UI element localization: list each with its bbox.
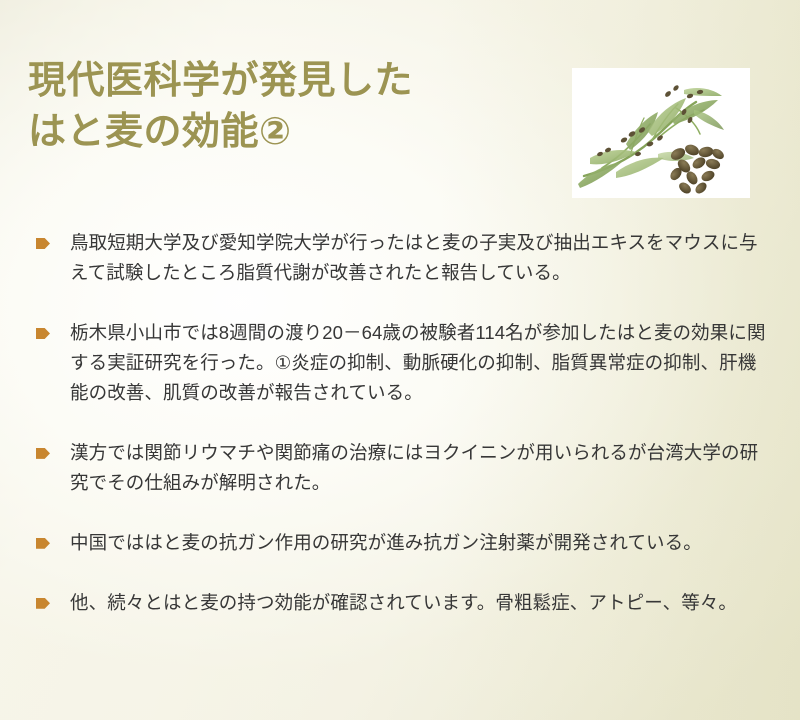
- bullet-arrow-icon: [36, 328, 50, 339]
- hatomugi-illustration: [572, 68, 750, 198]
- list-item-text: 漢方では関節リウマチや関節痛の治療にはヨクイニンが用いられるが台湾大学の研究でそ…: [70, 438, 770, 498]
- page-title-line-2: はと麦の効能②: [28, 107, 548, 158]
- plant-leaves: [578, 88, 724, 188]
- list-item-text: 中国でははと麦の抗ガン作用の研究が進み抗ガン注射薬が開発されている。: [70, 528, 774, 558]
- slide-canvas: 現代医科学が発見した はと麦の効能②: [0, 0, 800, 720]
- page-title: 現代医科学が発見した はと麦の効能②: [28, 56, 548, 157]
- bullet-arrow-icon: [36, 238, 50, 249]
- hatomugi-seeds: [668, 143, 726, 196]
- list-item: 栃木県小山市では8週間の渡り20－64歳の被験者114名が参加したはと麦の効果に…: [36, 318, 774, 408]
- bullet-arrow-icon: [36, 448, 50, 459]
- list-item: 他、続々とはと麦の持つ効能が確認されています。骨粗鬆症、アトピー、等々。: [36, 588, 774, 618]
- bullet-arrow-icon: [36, 598, 50, 609]
- list-item: 鳥取短期大学及び愛知学院大学が行ったはと麦の子実及び抽出エキスをマウスに与えて試…: [36, 228, 774, 288]
- list-item: 漢方では関節リウマチや関節痛の治療にはヨクイニンが用いられるが台湾大学の研究でそ…: [36, 438, 774, 498]
- list-item: 中国でははと麦の抗ガン作用の研究が進み抗ガン注射薬が開発されている。: [36, 528, 774, 558]
- bullet-arrow-icon: [36, 538, 50, 549]
- list-item-text: 栃木県小山市では8週間の渡り20－64歳の被験者114名が参加したはと麦の効果に…: [70, 318, 770, 408]
- list-item-text: 他、続々とはと麦の持つ効能が確認されています。骨粗鬆症、アトピー、等々。: [70, 588, 760, 618]
- bullet-list: 鳥取短期大学及び愛知学院大学が行ったはと麦の子実及び抽出エキスをマウスに与えて試…: [36, 228, 774, 618]
- page-title-line-1: 現代医科学が発見した: [28, 56, 548, 107]
- list-item-text: 鳥取短期大学及び愛知学院大学が行ったはと麦の子実及び抽出エキスをマウスに与えて試…: [70, 228, 770, 288]
